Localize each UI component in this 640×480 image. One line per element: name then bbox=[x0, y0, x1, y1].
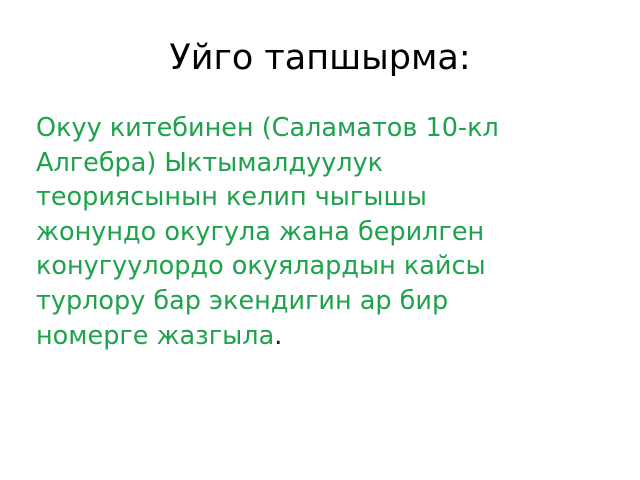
body-line: Алгебра) Ыктымалдуулук bbox=[36, 146, 596, 181]
page-title: Уйго тапшырма: bbox=[0, 36, 640, 80]
body-line: турлору бар экендигин ар бир bbox=[36, 284, 596, 319]
body-line: теориясынын келип чыгышы bbox=[36, 180, 596, 215]
sentence-period: . bbox=[274, 321, 282, 351]
body-line-last: номерге жазгыла. bbox=[36, 319, 596, 354]
body-line: конугуулордо окуялардын кайсы bbox=[36, 249, 596, 284]
body-line: Окуу китебинен (Саламатов 10-кл bbox=[36, 111, 596, 146]
body-line: жонундо окугула жана берилген bbox=[36, 215, 596, 250]
body-line-last-text: номерге жазгыла bbox=[36, 321, 274, 351]
slide-body-text: Окуу китебинен (Саламатов 10-кл Алгебра)… bbox=[36, 111, 596, 353]
slide-canvas: Уйго тапшырма: Окуу китебинен (Саламатов… bbox=[0, 0, 640, 480]
